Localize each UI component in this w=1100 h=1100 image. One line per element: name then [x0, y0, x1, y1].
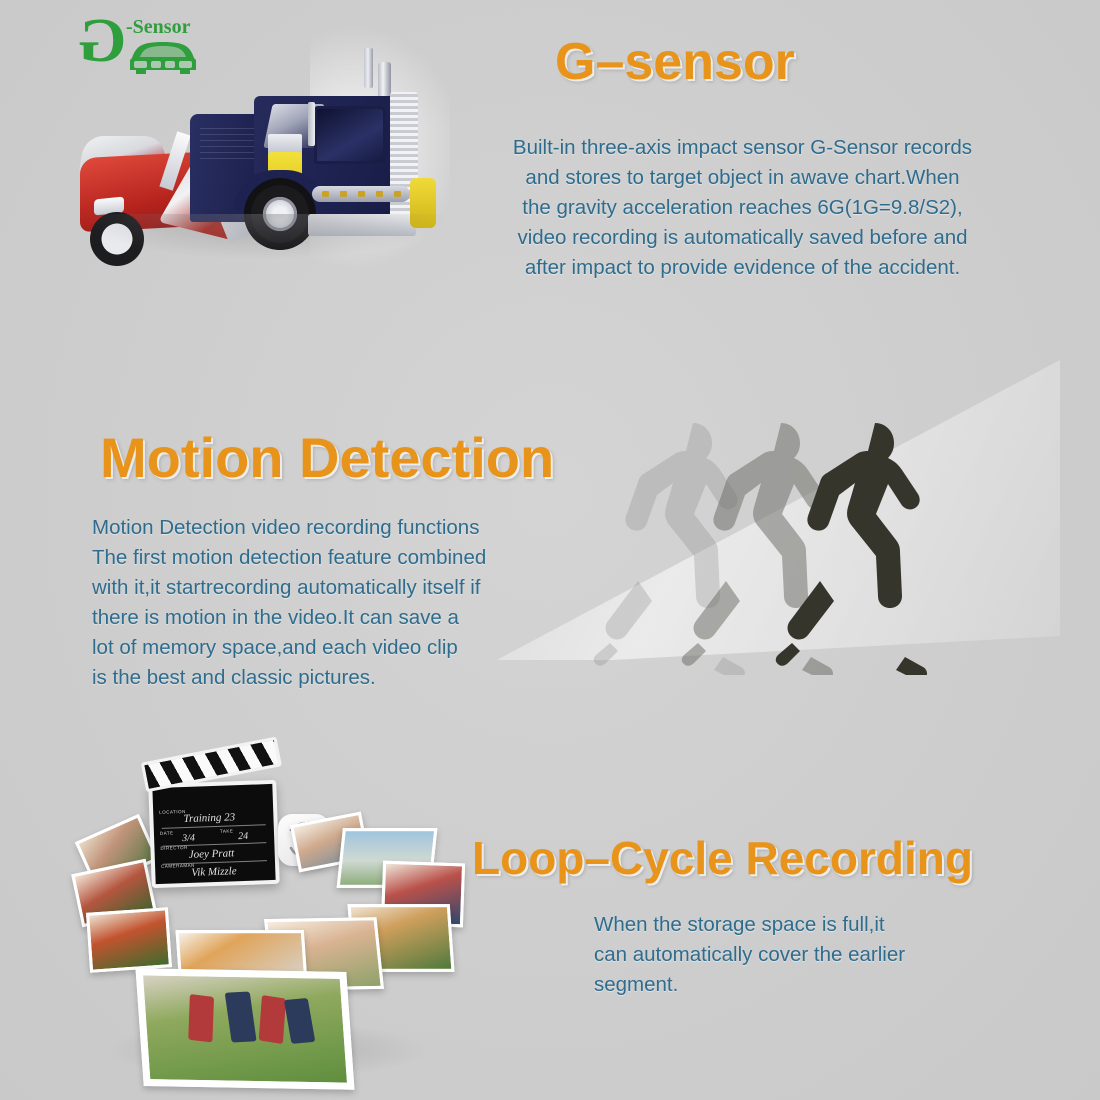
body-line: Motion Detection video recording functio…	[92, 513, 562, 543]
g-sensor-logo: G -Sensor	[78, 6, 206, 84]
collage-photo-featured	[135, 968, 354, 1089]
runner-silhouette-solid	[757, 405, 947, 675]
truck-side-window	[314, 106, 386, 164]
clap-value: Joey Pratt	[189, 847, 235, 861]
body-line: with it,it startrecording automatically …	[92, 573, 562, 603]
body-line: is the best and classic pictures.	[92, 663, 562, 693]
clapperboard-stripes	[141, 737, 282, 793]
section-g-sensor: G -Sensor	[0, 0, 1100, 330]
running-figures-silhouettes	[575, 385, 995, 675]
section-loop-cycle-recording: LOCATION Training 23 DATE 3/4 TAKE 24 DI…	[0, 730, 1100, 1100]
body-line: The first motion detection feature combi…	[92, 543, 562, 573]
section-body-g-sensor: Built-in three-axis impact sensor G-Sens…	[470, 133, 1015, 283]
body-line: and stores to target object in awave cha…	[470, 163, 1015, 193]
clap-label: TAKE	[220, 828, 234, 833]
truck-fuel-tank	[312, 186, 410, 202]
body-line: When the storage space is full,it	[594, 910, 994, 940]
body-line: can automatically cover the earlier	[594, 940, 994, 970]
clap-label: LOCATION	[159, 809, 186, 815]
body-line: there is motion in the video.It can save…	[92, 603, 562, 633]
clapperboard: LOCATION Training 23 DATE 3/4 TAKE 24 DI…	[148, 780, 280, 888]
clap-label: CAMERAMAN	[161, 863, 195, 869]
body-line: video recording is automatically saved b…	[470, 223, 1015, 253]
photo-collage-clapperboard: LOCATION Training 23 DATE 3/4 TAKE 24 DI…	[82, 770, 452, 1095]
collage-photo	[86, 907, 172, 973]
section-body-motion-detection: Motion Detection video recording functio…	[92, 513, 562, 693]
truck-mirror	[308, 102, 315, 146]
body-line: after impact to provide evidence of the …	[470, 253, 1015, 283]
body-line: segment.	[594, 970, 994, 1000]
clap-value: Vik Mizzle	[191, 865, 237, 879]
photo-ground-shadow	[72, 214, 450, 260]
truck-hood-vents	[200, 128, 256, 162]
section-motion-detection: Motion Detection Motion Detection video …	[0, 330, 1100, 730]
clap-value: Training 23	[183, 811, 235, 825]
clap-label: DIRECTOR	[160, 845, 188, 851]
clap-value: 24	[238, 831, 248, 842]
car-front-icon	[124, 36, 202, 82]
truck-exhaust-small	[364, 48, 373, 88]
section-body-loop-cycle: When the storage space is full,it can au…	[594, 910, 994, 1000]
body-line: the gravity acceleration reaches 6G(1G=9…	[470, 193, 1015, 223]
section-heading-g-sensor: G–sensor	[555, 36, 795, 88]
body-line: Built-in three-axis impact sensor G-Sens…	[470, 133, 1015, 163]
section-heading-motion-detection: Motion Detection	[100, 430, 554, 486]
section-heading-loop-cycle: Loop–Cycle Recording	[472, 835, 973, 881]
body-line: lot of memory space,and each video clip	[92, 633, 562, 663]
clap-value: 3/4	[182, 833, 195, 844]
clap-label: DATE	[160, 830, 174, 835]
infographic-page: G -Sensor	[0, 0, 1100, 1100]
logo-letter-g: G	[78, 10, 126, 72]
